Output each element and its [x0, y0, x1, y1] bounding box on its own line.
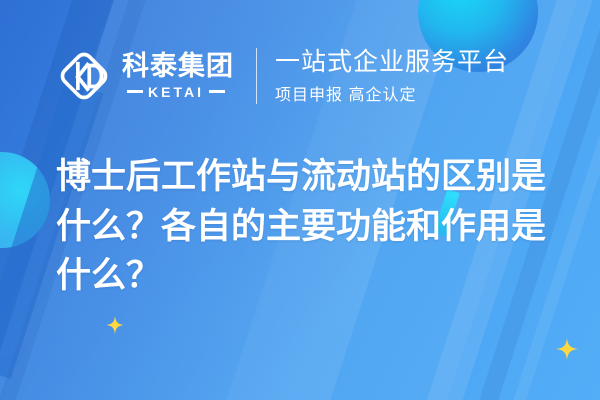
brand-name-cn: 科泰集团 [122, 52, 234, 80]
tagline-sub: 项目申报 高企认定 [275, 81, 509, 105]
article-banner: 科泰集团 KETAI 一站式企业服务平台 项目申报 高企认定 博士后工作站与流动… [0, 0, 600, 400]
sparkle-star-icon [556, 338, 578, 360]
tagline-block: 一站式企业服务平台 项目申报 高企认定 [275, 48, 509, 105]
header-divider [256, 48, 257, 104]
banner-header: 科泰集团 KETAI 一站式企业服务平台 项目申报 高企认定 [56, 38, 509, 114]
cyan-circle-left [0, 152, 50, 248]
article-headline: 博士后工作站与流动站的区别是什么？各自的主要功能和作用是什么？ [56, 152, 568, 301]
brand-name-en-row: KETAI [122, 84, 234, 100]
brand-dash-left [127, 90, 143, 93]
brand-lockup: 科泰集团 KETAI [122, 52, 234, 99]
ketai-diamond-kd-logo-icon [56, 48, 112, 104]
tagline-main: 一站式企业服务平台 [275, 48, 509, 76]
sparkle-star-icon [106, 316, 124, 334]
brand-dash-right [209, 90, 225, 93]
brand-name-en: KETAI [148, 84, 204, 100]
